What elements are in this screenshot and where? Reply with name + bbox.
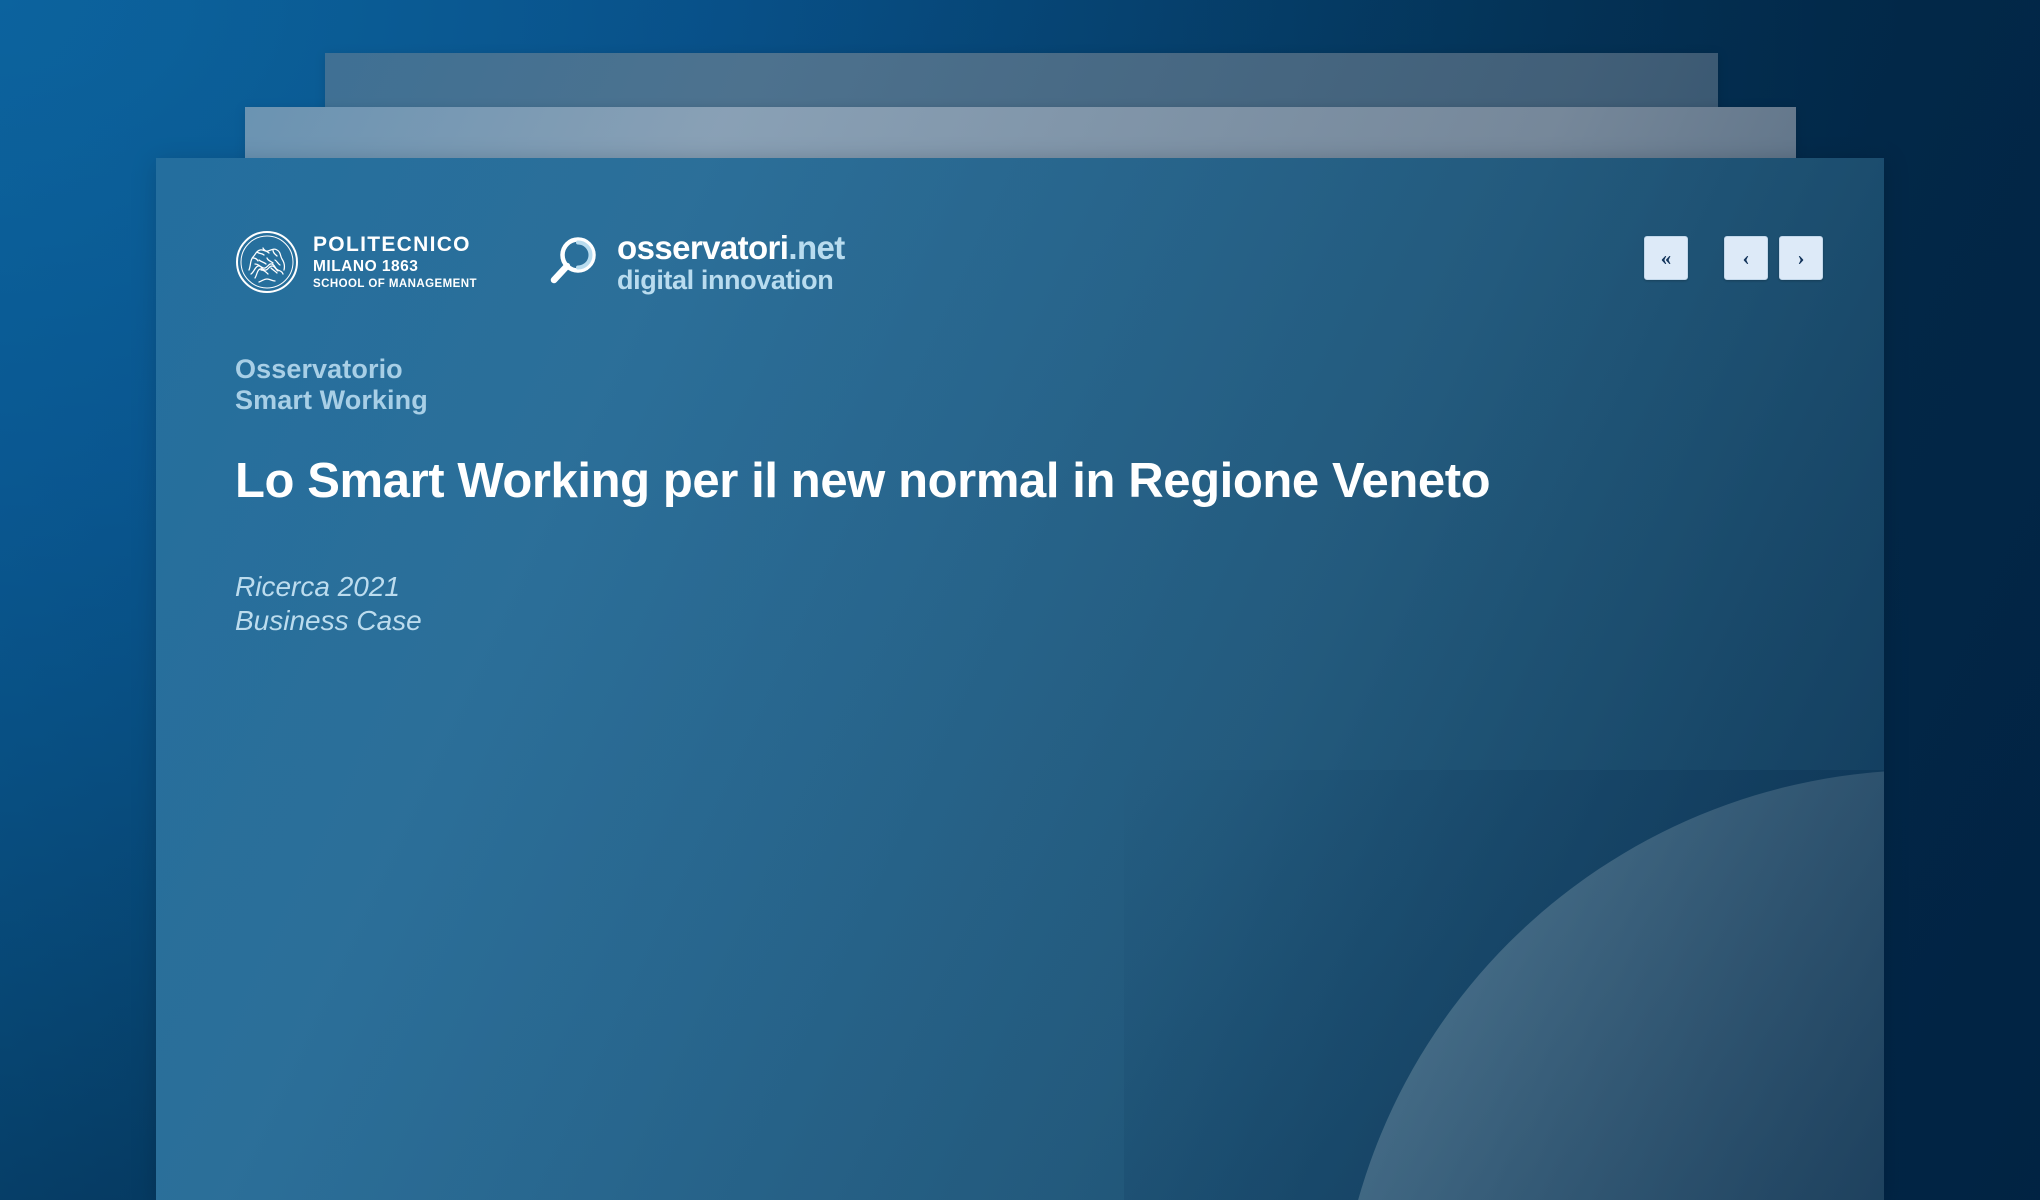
slide-subtitle: Ricerca 2021 Business Case	[235, 570, 1490, 638]
chevron-right-icon: ›	[1798, 246, 1805, 271]
logo-row: POLITECNICO MILANO 1863 SCHOOL OF MANAGE…	[235, 230, 845, 294]
slide[interactable]: POLITECNICO MILANO 1863 SCHOOL OF MANAGE…	[156, 158, 1884, 1200]
slide-navigation: « ‹ ›	[1644, 236, 1823, 280]
politecnico-logo: POLITECNICO MILANO 1863 SCHOOL OF MANAGE…	[235, 230, 477, 294]
politecnico-wordmark: POLITECNICO MILANO 1863 SCHOOL OF MANAGE…	[313, 234, 477, 290]
osservatori-name-tld: .net	[788, 229, 844, 266]
osservatori-tagline: digital innovation	[617, 267, 845, 294]
page-title: Lo Smart Working per il new normal in Re…	[235, 455, 1490, 508]
first-slide-button[interactable]: «	[1644, 236, 1688, 280]
next-slide-button[interactable]: ›	[1779, 236, 1823, 280]
osservatori-name: osservatori.net	[617, 231, 845, 264]
osservatori-wordmark: osservatori.net digital innovation	[617, 231, 845, 294]
politecnico-seal-icon	[235, 230, 299, 294]
chevron-double-left-icon: «	[1661, 246, 1672, 271]
magnifier-icon	[545, 233, 603, 291]
osservatori-name-main: osservatori	[617, 229, 788, 266]
previous-slide-button[interactable]: ‹	[1724, 236, 1768, 280]
observatory-eyebrow: Osservatorio Smart Working	[235, 354, 1490, 415]
chevron-left-icon: ‹	[1743, 246, 1750, 271]
presentation-viewer: POLITECNICO MILANO 1863 SCHOOL OF MANAGE…	[0, 0, 2040, 1200]
politecnico-school: SCHOOL OF MANAGEMENT	[313, 279, 477, 291]
politecnico-name: POLITECNICO	[313, 234, 477, 255]
slide-text-block: Osservatorio Smart Working Lo Smart Work…	[235, 354, 1490, 638]
politecnico-city-year: MILANO 1863	[313, 259, 477, 275]
osservatori-logo: osservatori.net digital innovation	[545, 231, 845, 294]
